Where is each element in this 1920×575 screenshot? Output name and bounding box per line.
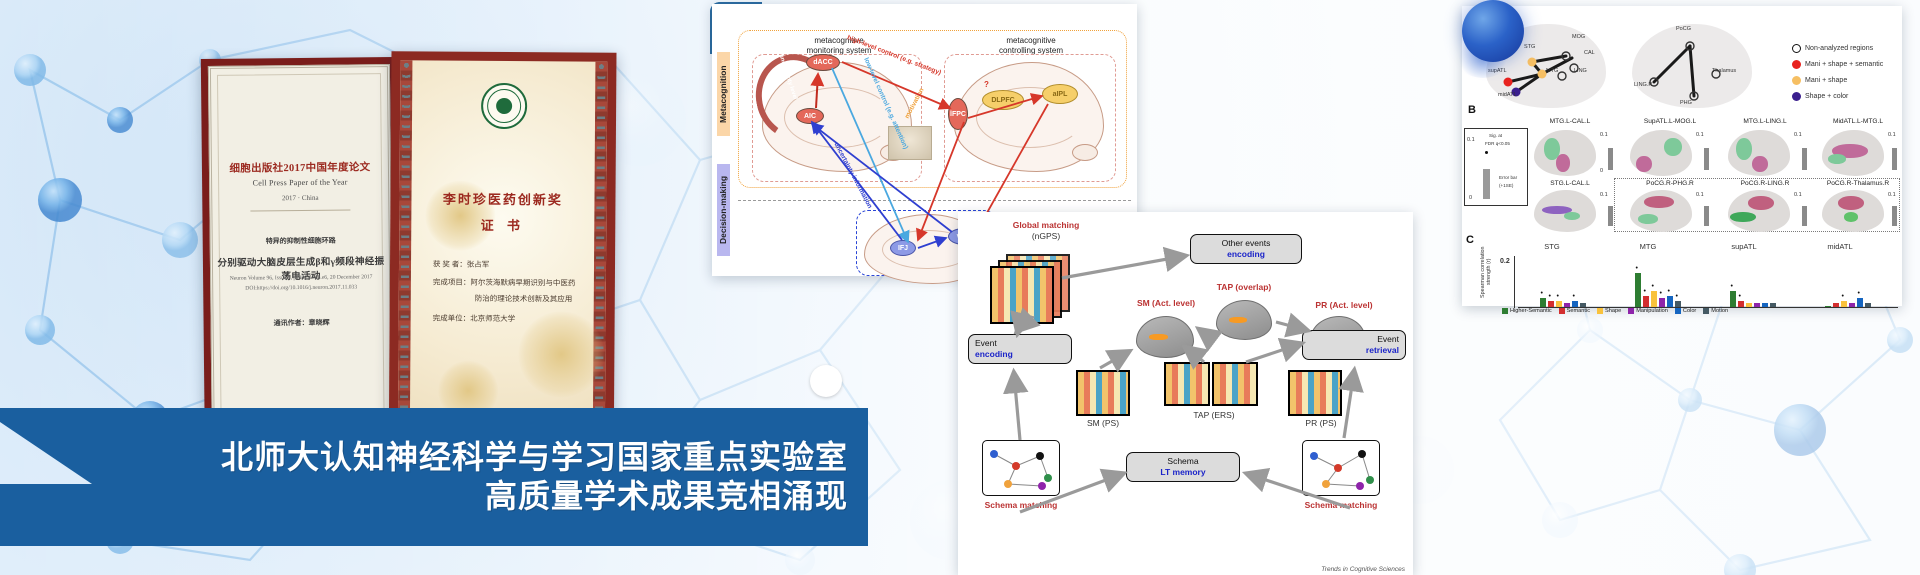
- region-label-mog: MOG: [1572, 34, 1585, 40]
- panelC-ytick: 0.2: [1500, 258, 1510, 265]
- cert-right-project-value2: 防治的理论技术创新及其应用: [475, 293, 573, 305]
- panelC-bar: •: [1730, 291, 1736, 309]
- significance-marker: •: [1842, 293, 1844, 300]
- panelC-legend-item: Higher-Semantic: [1502, 308, 1552, 314]
- panelC-legend-swatch: [1502, 308, 1508, 314]
- significance-marker: •: [1739, 293, 1741, 300]
- region-label-pocg: PoCG: [1676, 26, 1691, 32]
- panelC-group-mtg: ••••••: [1613, 258, 1702, 308]
- schema-arrows: [958, 212, 1413, 575]
- panelB-inset-legend: 0.1 Sig. at FDR q<0.05 Error bar (+1SE) …: [1464, 128, 1528, 206]
- banner-line-2: 高质量学术成果竞相涌现: [485, 477, 848, 516]
- banner-line-1: 北师大认知神经科学与学习国家重点实验室: [221, 438, 848, 477]
- panelC-legend-item: Manipulation: [1628, 308, 1668, 314]
- figure-source-footer: Trends in Cognitive Sciences: [1321, 566, 1405, 573]
- panelB-brain-7: [1728, 190, 1790, 232]
- significance-marker: •: [1660, 290, 1662, 297]
- panelC-legend: Higher-SemanticSemanticShapeManipulation…: [1502, 308, 1898, 314]
- panelC-legend-item: Color: [1675, 308, 1696, 314]
- panelC-ylabel: Spearman correlation strength (r): [1480, 240, 1492, 304]
- significance-marker: •: [1858, 290, 1860, 297]
- panelB-title-1: MTG.L-CAL.L: [1524, 118, 1616, 125]
- panelC-legend-label: Color: [1683, 308, 1696, 314]
- panelB-brain-8: [1822, 190, 1884, 232]
- figure-schema-tap-panel: Global matching(nGPS) Other eventsencodi…: [958, 212, 1413, 575]
- panelC-legend-label: Motion: [1711, 308, 1728, 314]
- panelC-group-supatl: ••: [1708, 258, 1797, 308]
- cert-right-awardee-label: 获 奖 者：: [433, 260, 467, 269]
- region-label-thalamus: Thalamus: [1712, 68, 1736, 74]
- significance-marker: •: [1676, 293, 1678, 300]
- panelB-brain-2: [1630, 130, 1692, 176]
- cert-right-unit-value: 北京师范大学: [470, 314, 515, 323]
- conn-brain-right-edges: [1632, 24, 1752, 108]
- significance-marker: •: [1731, 283, 1733, 290]
- cert-right-awardee-value: 张占军: [467, 260, 490, 269]
- panelC-legend-label: Semantic: [1567, 308, 1590, 314]
- panelC-group-stg: ••••: [1518, 258, 1607, 308]
- region-label-midatl: midATL: [1498, 92, 1517, 98]
- legend-item-mani-shape: Mani + shape: [1792, 76, 1847, 85]
- panelC-group-midatl: midATL: [1806, 242, 1874, 251]
- panelB-title-3: MTG.L-LING.L: [1718, 118, 1812, 125]
- figure-connectivity-panel: STG MOG CAL supATL MTG LING midATL PoCG …: [1462, 6, 1902, 306]
- panelC-legend-item: Shape: [1597, 308, 1621, 314]
- panelB-brain-6: [1630, 190, 1692, 232]
- panelB-brain-3: [1728, 130, 1790, 176]
- panelC-bar: •: [1651, 291, 1657, 309]
- panelC-legend-swatch: [1703, 308, 1709, 314]
- significance-marker: •: [1668, 288, 1670, 295]
- legend-item-mani-shape-semantic: Mani + shape + semantic: [1792, 60, 1883, 69]
- significance-marker: •: [1636, 265, 1638, 272]
- cert-left-subject: 特异的抑制性细胞环路: [213, 235, 389, 247]
- panelC-bar: •: [1635, 273, 1641, 308]
- panelC-legend-swatch: [1628, 308, 1634, 314]
- region-label-ling: LING: [1574, 68, 1587, 74]
- panelC-legend-label: Higher-Semantic: [1510, 308, 1552, 314]
- panelC-group-stg: STG: [1518, 242, 1586, 251]
- legend-item-nonanalyzed: Non-analyzed regions: [1792, 44, 1873, 53]
- cert-left-title-en: Cell Press Paper of the Year: [212, 177, 388, 188]
- panelB-brain-5: [1534, 190, 1596, 232]
- cert-right-project-value1: 阿尔茨海默病早期识别与中医药: [470, 278, 575, 288]
- significance-marker: •: [1644, 288, 1646, 295]
- panelB-title-4: MidATL.L-MTG.L: [1812, 118, 1904, 125]
- panelC-group-mtg: MTG: [1614, 242, 1682, 251]
- panelC-legend-item: Motion: [1703, 308, 1728, 314]
- panelB-title-5: STG.L-CAL.L: [1524, 180, 1616, 187]
- panelC-legend-label: Manipulation: [1636, 308, 1668, 314]
- panelC-bar-chart: ••••••••••••••: [1518, 258, 1898, 308]
- cert-right-award-name: 李时珍医药创新奖: [399, 188, 606, 208]
- region-label-phg: PHG: [1680, 100, 1692, 106]
- legend-item-shape-color: Shape + color: [1792, 92, 1848, 101]
- panelC-legend-swatch: [1559, 308, 1565, 314]
- banner-dot-indicator[interactable]: [810, 365, 842, 397]
- blue-sphere-decoration: [1462, 0, 1524, 62]
- hero-banner-image: 细胞出版社2017中国年度论文 Cell Press Paper of the …: [0, 0, 1920, 575]
- region-label-lingr: LING.R: [1634, 82, 1652, 88]
- cert-right-project-label: 完成项目：: [433, 278, 471, 287]
- panelB-title-2: SupATL.L-MOG.L: [1620, 118, 1720, 125]
- panelC-legend-swatch: [1597, 308, 1603, 314]
- title-banner-text: 北师大认知神经科学与学习国家重点实验室 高质量学术成果竞相涌现: [0, 408, 868, 546]
- significance-marker: •: [1652, 283, 1654, 290]
- cert-right-unit-label: 完成单位：: [433, 314, 471, 323]
- significance-marker: •: [1573, 293, 1575, 300]
- cert-left-author: 通讯作者：章晓辉: [214, 317, 390, 329]
- panelB-brain-4: [1822, 130, 1884, 176]
- significance-marker: •: [1541, 290, 1543, 297]
- panel-letter-b: B: [1468, 104, 1476, 116]
- cert-left-title-cn: 细胞出版社2017中国年度论文: [212, 159, 388, 176]
- panelC-legend-item: Semantic: [1559, 308, 1590, 314]
- significance-marker: •: [1557, 293, 1559, 300]
- certificate-seal: [480, 83, 526, 129]
- cert-right-cert-word: 证 书: [399, 214, 606, 234]
- panelC-group-midatl: ••: [1803, 258, 1892, 308]
- significance-marker: •: [1549, 293, 1551, 300]
- panelC-legend-swatch: [1675, 308, 1681, 314]
- panelC-group-supatl: supATL: [1710, 242, 1778, 251]
- region-label-stg: STG: [1524, 44, 1535, 50]
- panelC-legend-label: Shape: [1605, 308, 1621, 314]
- region-label-mtg: MTG: [1546, 68, 1558, 74]
- panelB-brain-1: [1534, 130, 1596, 176]
- region-label-cal: CAL: [1584, 50, 1595, 56]
- panel-letter-c: C: [1466, 234, 1474, 246]
